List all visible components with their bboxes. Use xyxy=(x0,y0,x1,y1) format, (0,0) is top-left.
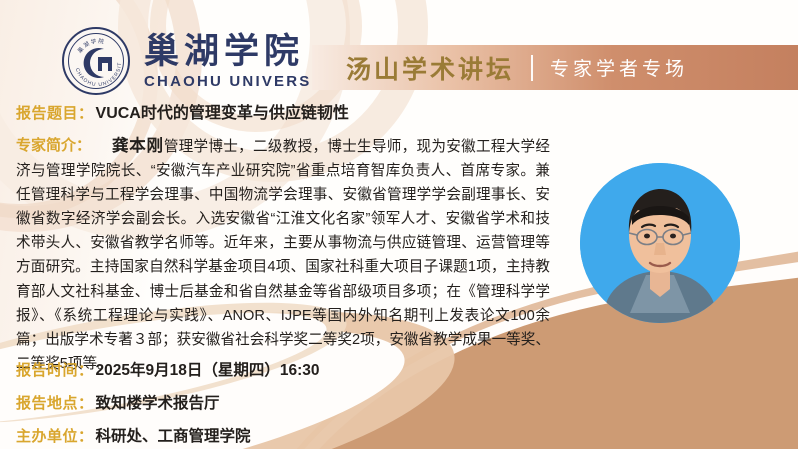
speaker-bio-label: 专家简介： xyxy=(16,134,91,155)
report-title-value: VUCA时代的管理变革与供应链韧性 xyxy=(96,99,349,123)
speaker-name: 龚本刚 xyxy=(112,137,164,155)
report-place-label: 报告地点： xyxy=(16,392,94,413)
report-title-label: 报告题目： xyxy=(16,102,94,123)
speaker-bio-block: 专家简介： 龚本刚管理学博士，二级教授，博士生导师，现为安徽工程大学经济与管理学… xyxy=(16,134,550,376)
report-title-row: 报告题目： VUCA时代的管理变革与供应链韧性 xyxy=(16,99,349,123)
report-place-row: 报告地点： 致知楼学术报告厅 xyxy=(16,391,220,413)
speaker-bio-paragraph: 龚本刚管理学博士，二级教授，博士生导师，现为安徽工程大学经济与管理学院院长、“安… xyxy=(16,134,550,376)
report-host-value: 科研处、工商管理学院 xyxy=(96,424,251,446)
report-time-label: 报告时间： xyxy=(16,359,94,380)
report-time-row: 报告时间： 2025年9月18日（星期四）16:30 xyxy=(16,358,320,380)
report-host-label: 主办单位： xyxy=(16,425,94,446)
report-host-row: 主办单位： 科研处、工商管理学院 xyxy=(16,424,251,446)
speaker-bio-text: 管理学博士，二级教授，博士生导师，现为安徽工程大学经济与管理学院院长、“安徽汽车… xyxy=(16,139,550,372)
report-time-value: 2025年9月18日（星期四）16:30 xyxy=(96,358,320,380)
report-place-value: 致知楼学术报告厅 xyxy=(96,391,220,413)
poster-canvas: 巢湖学院 CHAOHU UNIVERSITY 巢湖学院 CHAOHU UNIVE… xyxy=(0,0,798,449)
poster-content: 报告题目： VUCA时代的管理变革与供应链韧性 专家简介： 龚本刚管理学博士，二… xyxy=(0,0,798,449)
